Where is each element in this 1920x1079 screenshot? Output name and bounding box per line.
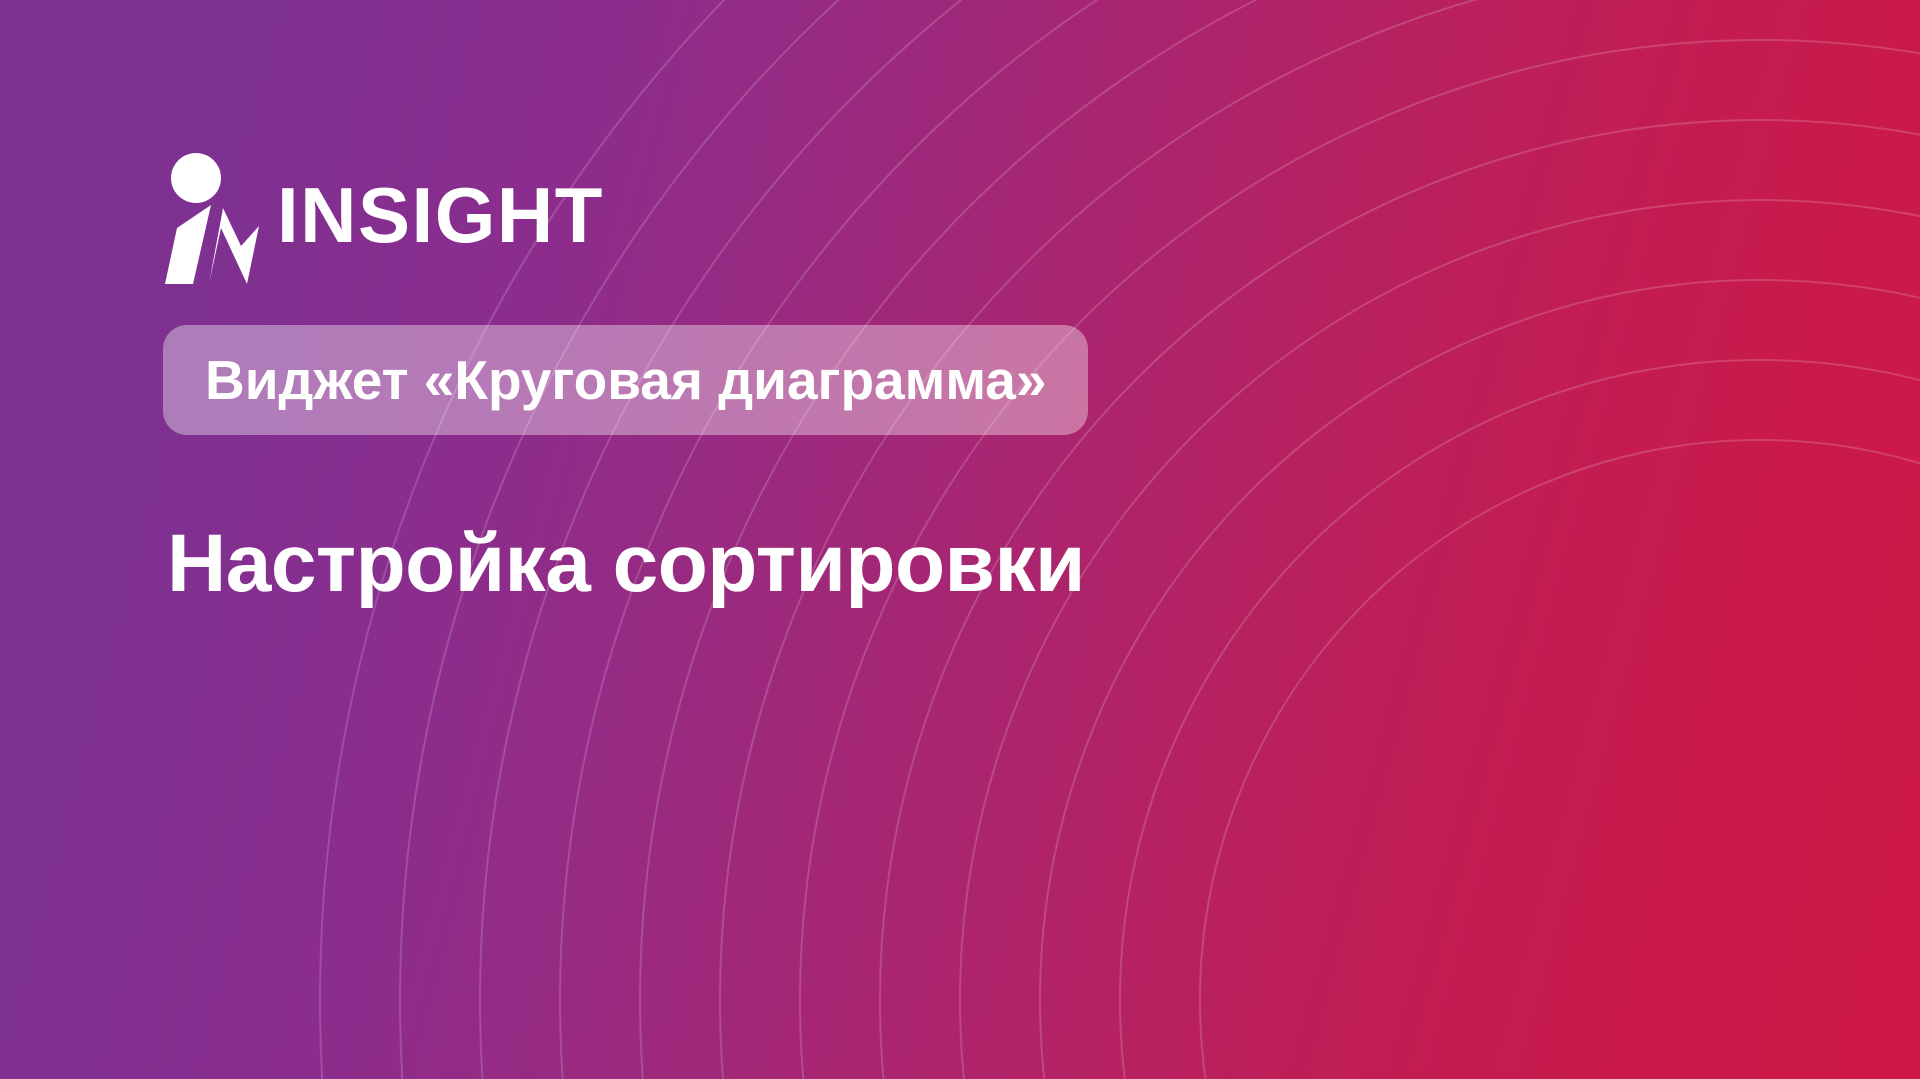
- title-slide: INSIGHT Виджет «Круговая диаграмма» Наст…: [0, 0, 1920, 1079]
- widget-badge: Виджет «Круговая диаграмма»: [163, 325, 1088, 435]
- insight-logo-mark-icon: [163, 152, 261, 284]
- widget-badge-label: Виджет «Круговая диаграмма»: [205, 353, 1046, 408]
- logo-wedge: [209, 208, 259, 284]
- brand-lockup: INSIGHT: [163, 148, 604, 288]
- brand-wordmark: INSIGHT: [277, 176, 604, 260]
- logo-stem: [165, 205, 211, 284]
- logo-dot: [171, 153, 221, 203]
- page-title: Настройка сортировки: [167, 521, 1085, 607]
- slide-content: INSIGHT Виджет «Круговая диаграмма» Наст…: [163, 0, 1363, 1079]
